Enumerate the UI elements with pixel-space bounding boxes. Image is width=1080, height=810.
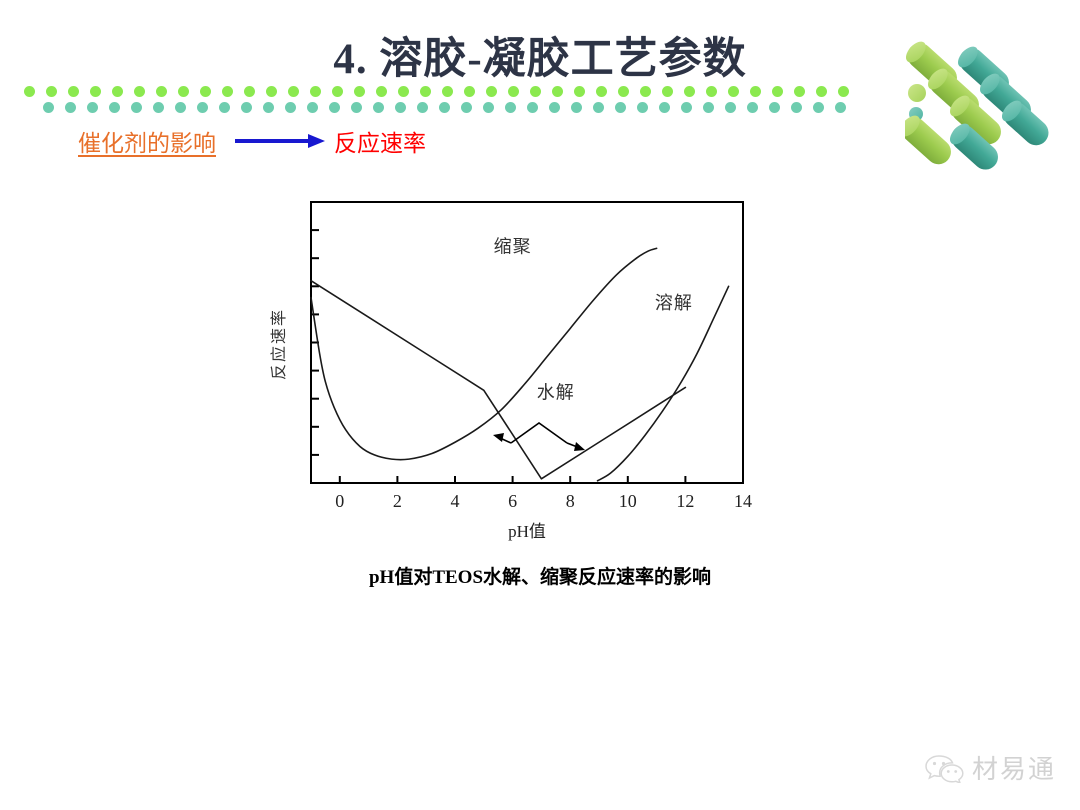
decorative-dot <box>134 86 145 97</box>
x-axis-tick-label: 8 <box>566 491 575 511</box>
capsule-group <box>905 38 1054 175</box>
decorative-dot <box>772 86 783 97</box>
subtitle-row: 催化剂的影响 反应速率 <box>78 124 426 158</box>
decorative-dot <box>505 102 516 113</box>
wechat-icon <box>925 753 965 783</box>
decorative-dot <box>351 102 362 113</box>
decorative-dot <box>791 102 802 113</box>
decorative-dot <box>46 86 57 97</box>
x-axis-tick-label: 4 <box>451 491 460 511</box>
decorative-dot <box>24 86 35 97</box>
decorative-dot <box>90 86 101 97</box>
decorative-dot <box>219 102 230 113</box>
decorative-dot <box>442 86 453 97</box>
decorative-dot <box>222 86 233 97</box>
decorative-dot <box>395 102 406 113</box>
decorative-dot <box>376 86 387 97</box>
chart-annotation-label: 溶解 <box>655 293 693 313</box>
x-axis-tick-label: 12 <box>676 491 694 511</box>
x-axis-tick-label: 14 <box>734 491 752 511</box>
decorative-capsule-cluster <box>905 8 1080 193</box>
x-axis-title: pH值 <box>508 522 546 541</box>
decorative-dot <box>530 86 541 97</box>
decorative-dot <box>549 102 560 113</box>
decorative-dot <box>178 86 189 97</box>
decorative-dot <box>285 102 296 113</box>
x-axis-tick-labels: 02468101214 <box>335 491 752 511</box>
decorative-dot <box>593 102 604 113</box>
decorative-dot-row-bottom <box>43 102 857 113</box>
decorative-dot <box>728 86 739 97</box>
decorative-dot <box>354 86 365 97</box>
subtitle-effect-label: 反应速率 <box>334 124 426 158</box>
decorative-dot <box>706 86 717 97</box>
decorative-dot <box>68 86 79 97</box>
decorative-dot <box>725 102 736 113</box>
capsule-dot-green <box>908 84 926 102</box>
decorative-dot <box>794 86 805 97</box>
decorative-dot <box>747 102 758 113</box>
decorative-dot <box>838 86 849 97</box>
decorative-dot <box>420 86 431 97</box>
decorative-dot <box>835 102 846 113</box>
figure-caption: pH值对TEOS水解、缩聚反应速率的影响 <box>0 562 1080 589</box>
decorative-dot <box>417 102 428 113</box>
chart-figure: 02468101214 缩聚溶解水解 pH值 反应速率 <box>262 194 762 594</box>
decorative-dot <box>288 86 299 97</box>
right-arrow-icon <box>234 131 326 151</box>
decorative-dot <box>43 102 54 113</box>
decorative-dot <box>486 86 497 97</box>
decorative-dot <box>263 102 274 113</box>
decorative-dot <box>109 102 120 113</box>
decorative-dot <box>266 86 277 97</box>
decorative-dot <box>703 102 714 113</box>
decorative-dot <box>527 102 538 113</box>
decorative-dot <box>244 86 255 97</box>
decorative-dot <box>200 86 211 97</box>
decorative-dot <box>552 86 563 97</box>
decorative-dot <box>640 86 651 97</box>
decorative-dot <box>681 102 692 113</box>
decorative-dot <box>439 102 450 113</box>
x-axis-tick-label: 10 <box>619 491 637 511</box>
decorative-dot <box>131 102 142 113</box>
decorative-dot <box>241 102 252 113</box>
decorative-dot <box>769 102 780 113</box>
decorative-dot <box>398 86 409 97</box>
y-axis-title: 反应速率 <box>269 308 288 380</box>
x-axis-tick-label: 0 <box>335 491 344 511</box>
decorative-dot <box>112 86 123 97</box>
decorative-dot <box>659 102 670 113</box>
decorative-dot <box>332 86 343 97</box>
ph-reaction-rate-chart: 02468101214 缩聚溶解水解 pH值 反应速率 <box>262 194 762 594</box>
watermark: 材易通 <box>925 749 1056 786</box>
decorative-dot <box>197 102 208 113</box>
decorative-dot <box>483 102 494 113</box>
decorative-dot <box>307 102 318 113</box>
decorative-dot <box>461 102 472 113</box>
decorative-dot <box>684 86 695 97</box>
decorative-dot <box>153 102 164 113</box>
decorative-dot <box>637 102 648 113</box>
decorative-dot <box>464 86 475 97</box>
decorative-dot <box>87 102 98 113</box>
decorative-dot <box>373 102 384 113</box>
x-axis-tick-label: 2 <box>393 491 402 511</box>
slide-canvas: 4. 溶胶-凝胶工艺参数 催化剂的影响 反应速率 02468101214 <box>0 0 1080 810</box>
chart-annotation-label: 缩聚 <box>494 237 532 257</box>
decorative-dot <box>596 86 607 97</box>
x-axis-tick-label: 6 <box>508 491 517 511</box>
decorative-dot <box>662 86 673 97</box>
decorative-dot <box>813 102 824 113</box>
decorative-dot-row-top <box>24 86 860 97</box>
decorative-dot <box>574 86 585 97</box>
decorative-dot <box>618 86 629 97</box>
decorative-dot <box>310 86 321 97</box>
chart-annotation-label: 水解 <box>537 383 575 403</box>
watermark-text: 材易通 <box>972 749 1056 786</box>
decorative-dot <box>571 102 582 113</box>
decorative-dot <box>65 102 76 113</box>
decorative-dot <box>816 86 827 97</box>
decorative-dot <box>615 102 626 113</box>
decorative-dot <box>508 86 519 97</box>
decorative-dot <box>750 86 761 97</box>
decorative-dot <box>329 102 340 113</box>
decorative-dot <box>156 86 167 97</box>
subtitle-cause-label: 催化剂的影响 <box>78 124 216 158</box>
decorative-dot <box>175 102 186 113</box>
